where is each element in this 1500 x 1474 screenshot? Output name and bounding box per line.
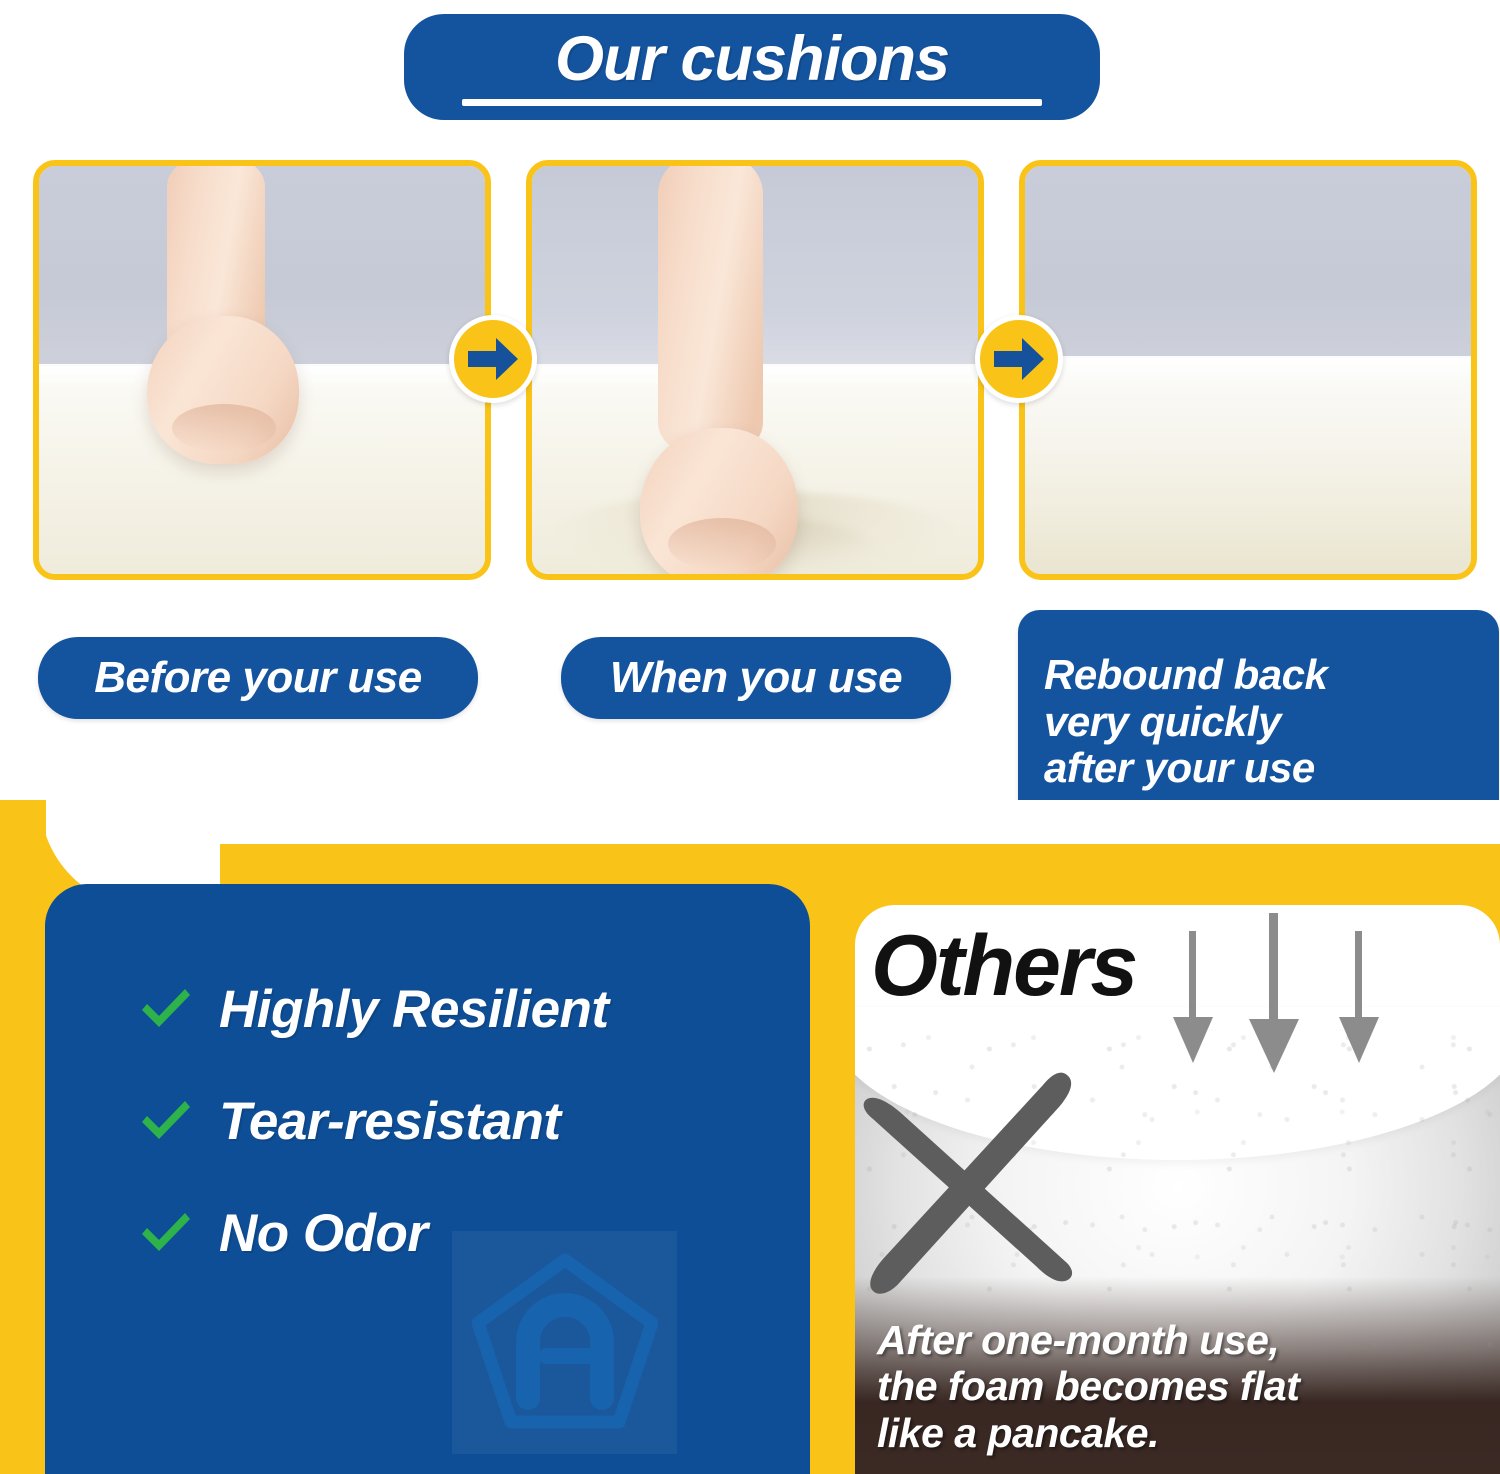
knuckle-shading — [172, 404, 276, 452]
x-cross-mark — [861, 1055, 1091, 1305]
step-connector-arrow-2 — [975, 315, 1063, 403]
yellow-band-notch-fill — [0, 800, 46, 910]
title-underline — [462, 99, 1042, 106]
feature-item: Tear-resistant — [137, 1092, 790, 1150]
foam-edge-highlight — [1025, 356, 1471, 382]
others-title: Others — [871, 923, 1136, 1009]
scene-before — [39, 166, 485, 574]
knuckle-shading — [668, 518, 776, 570]
step-caption-label: Before your use — [94, 656, 421, 700]
others-caption-line-1: After one-month use, — [877, 1317, 1490, 1363]
infographic-page: Our cushions — [0, 0, 1500, 1474]
check-icon — [137, 980, 195, 1038]
steps-photo-row — [33, 160, 1479, 580]
step-caption-line-1: Rebound back — [1044, 652, 1327, 699]
x-cross-icon — [861, 1292, 1091, 1309]
forearm — [658, 166, 763, 452]
scene-during — [532, 166, 978, 574]
others-caption: After one-month use, the foam becomes fl… — [877, 1317, 1490, 1456]
step-connector-arrow-1 — [449, 315, 537, 403]
step-caption-line-3: after your use — [1044, 745, 1315, 792]
step-photo-rebounded — [1019, 160, 1477, 580]
arrow-right-icon — [992, 335, 1046, 383]
feature-label: Highly Resilient — [219, 983, 609, 1036]
feature-label: Tear-resistant — [219, 1095, 561, 1148]
page-title: Our cushions — [555, 28, 949, 91]
step-photo-before — [33, 160, 491, 580]
feature-item: Highly Resilient — [137, 980, 790, 1038]
feature-label: No Odor — [219, 1207, 427, 1260]
step-caption-line-2: very quickly — [1044, 699, 1281, 746]
background-wall — [1025, 166, 1471, 378]
check-icon — [137, 1204, 195, 1262]
arrow-down-icon — [1155, 1060, 1415, 1077]
step-photo-during — [526, 160, 984, 580]
others-caption-line-3: like a pancake. — [877, 1410, 1490, 1456]
check-icon — [137, 1092, 195, 1150]
others-caption-line-2: the foam becomes flat — [877, 1363, 1490, 1409]
scene-rebounded — [1025, 166, 1471, 574]
page-title-banner: Our cushions — [404, 14, 1100, 120]
step-caption-before: Before your use — [38, 637, 478, 719]
step-caption-during: When you use — [561, 637, 951, 719]
step-caption-label: When you use — [610, 656, 902, 700]
others-panel: Others — [855, 905, 1500, 1474]
feature-item: No Odor — [137, 1204, 790, 1262]
pressure-arrows — [1155, 913, 1415, 1073]
features-list: Highly Resilient Tear-resistant No Odor — [137, 980, 790, 1262]
arrow-right-icon — [466, 335, 520, 383]
features-panel: Highly Resilient Tear-resistant No Odor — [45, 884, 810, 1474]
foam-surface-flat — [1025, 358, 1471, 574]
white-strip — [180, 800, 1500, 844]
